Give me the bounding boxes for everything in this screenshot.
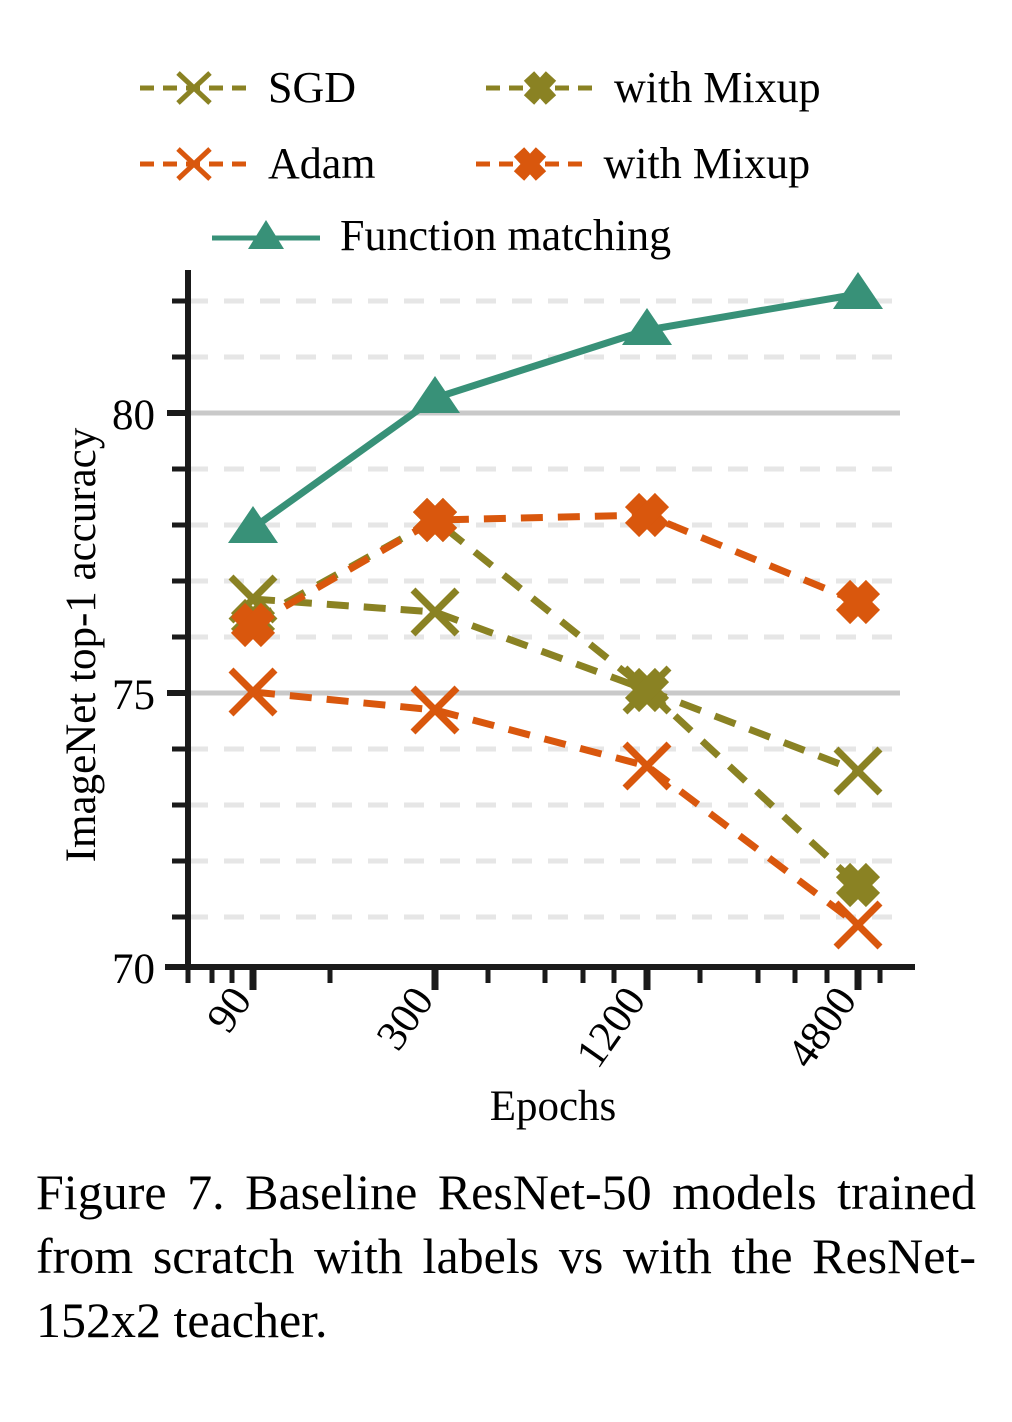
x-tick-label-4800: 4800 — [778, 979, 866, 1076]
x-tick-label-300: 300 — [368, 979, 443, 1059]
x-tick-label-1200: 1200 — [567, 979, 655, 1076]
x-axis-ticks — [188, 967, 880, 990]
y-tick-label-75: 75 — [112, 672, 155, 719]
series-sgd — [231, 577, 880, 793]
y-axis-ticks — [167, 301, 188, 967]
x-axis-title: Epochs — [490, 1083, 617, 1130]
y-tick-label-70: 70 — [112, 946, 155, 993]
y-axis-title: ImageNet top-1 accuracy — [58, 427, 105, 862]
figure-caption: Figure 7. Baseline ResNet-50 models trai… — [36, 1160, 976, 1352]
chart-plot-area: 80 75 70 90 300 1200 4800 ImageNet top-1… — [0, 0, 1012, 1130]
y-tick-label-80: 80 — [112, 392, 155, 439]
figure-container: SGD with Mixup — [0, 0, 1012, 1422]
series-adam — [231, 670, 880, 947]
series-function-matching — [228, 272, 883, 543]
series-adam-mixup — [238, 500, 873, 640]
